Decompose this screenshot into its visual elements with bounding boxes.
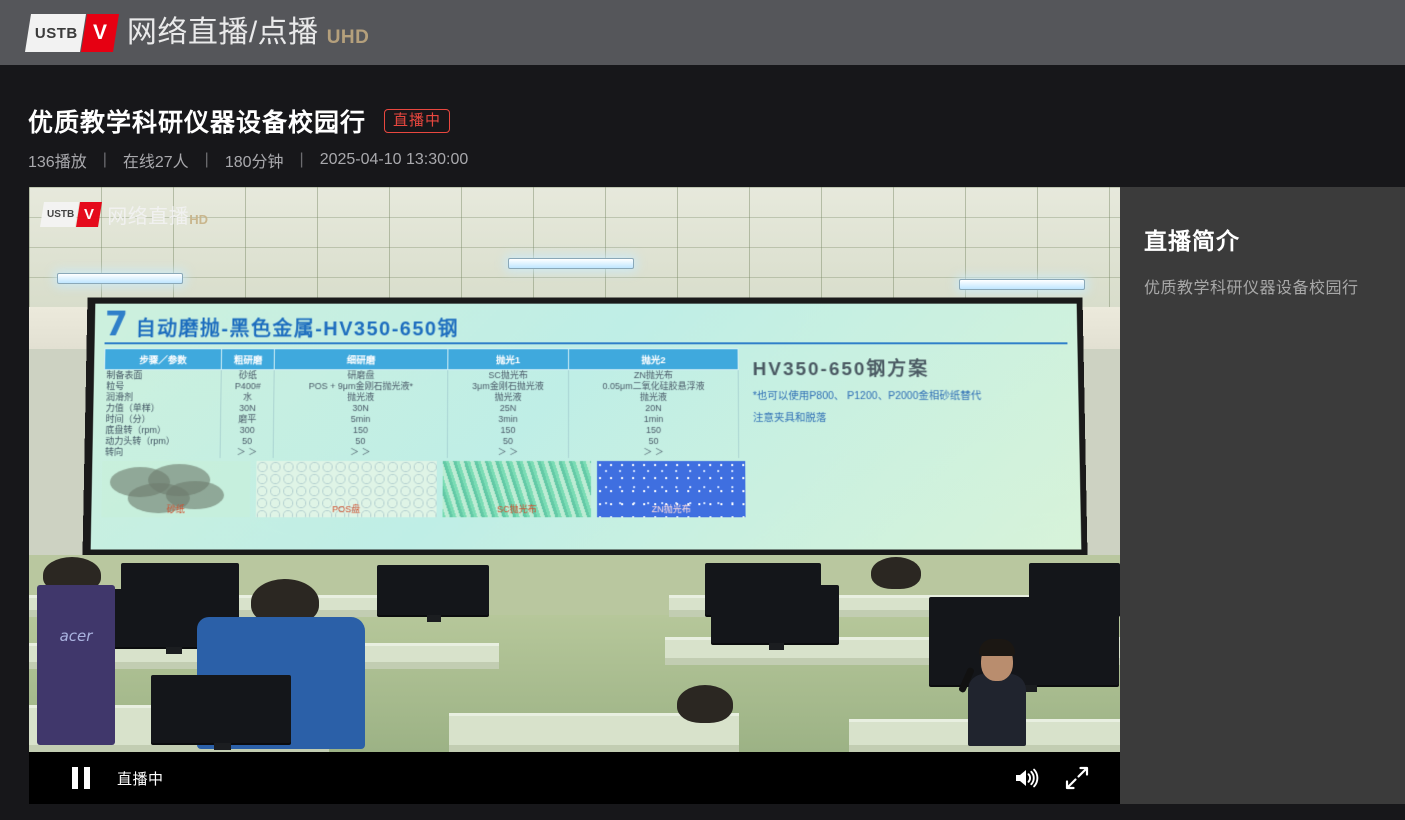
ceiling-light bbox=[508, 258, 634, 269]
table-cell: 50 bbox=[220, 436, 273, 447]
pause-icon[interactable] bbox=[72, 767, 90, 789]
table-header-row: 步骤／参数粗研磨细研磨抛光1抛光2 bbox=[105, 349, 739, 370]
page-footer-strip bbox=[0, 804, 1405, 820]
monitor bbox=[711, 585, 839, 643]
table-cell: 150 bbox=[274, 425, 448, 436]
watermark-quality-tag: HD bbox=[189, 212, 208, 229]
table-cell: ＞ ＞ bbox=[220, 447, 273, 458]
watermark-v-text: V bbox=[84, 206, 94, 223]
meta-plays: 136播放 bbox=[28, 148, 87, 172]
brand-quality-tag: UHD bbox=[327, 27, 370, 52]
ustb-text: USTB bbox=[35, 24, 78, 41]
table-cell: 150 bbox=[569, 425, 739, 436]
table-cell: 1min bbox=[569, 414, 739, 425]
sample-sc-cloth: SC抛光布 bbox=[442, 461, 591, 517]
brand-title: 网络直播/点播 bbox=[127, 18, 319, 48]
table-cell: 砂纸 bbox=[221, 370, 274, 381]
table-cell: 底盘转（rpm） bbox=[103, 425, 220, 436]
scene-classroom bbox=[29, 555, 1120, 752]
table-cell: 抛光液 bbox=[569, 392, 739, 403]
table-cell: 3min bbox=[447, 414, 568, 425]
meta-separator: | bbox=[300, 151, 304, 169]
watermark-label: 网络直播 bbox=[107, 200, 189, 229]
slide-notes-title: HV350-650钢方案 bbox=[753, 354, 1069, 381]
v-badge: V bbox=[81, 14, 119, 52]
slide-header: 7 自动磨抛-黑色金属-HV350-650钢 bbox=[105, 310, 1068, 345]
table-cell: 润滑剂 bbox=[104, 392, 221, 403]
table-cell: 力值（单样） bbox=[104, 403, 221, 414]
table-cell: 研磨盘 bbox=[274, 370, 447, 381]
table-cell: 5min bbox=[274, 414, 447, 425]
table-cell: 水 bbox=[221, 392, 274, 403]
app-header: USTB V 网络直播/点播 UHD bbox=[0, 0, 1405, 65]
sample-caption: SC抛光布 bbox=[443, 502, 592, 515]
table-cell: 制备表面 bbox=[104, 370, 221, 381]
meta-start-time: 2025-04-10 13:30:00 bbox=[320, 151, 469, 169]
student-head bbox=[677, 685, 733, 723]
v-text: V bbox=[93, 21, 107, 45]
page-title: 优质教学科研仪器设备校园行 bbox=[28, 103, 366, 139]
slide-sample-images: 砂纸 POS盘 SC抛光布 ZN抛光布 bbox=[101, 461, 1070, 517]
table-cell: 粒号 bbox=[104, 381, 221, 392]
table-row: 动力头转（rpm）50505050 bbox=[103, 436, 739, 447]
acer-monitor: acer bbox=[37, 585, 115, 745]
meta-separator: | bbox=[205, 151, 209, 169]
sample-caption: POS盘 bbox=[256, 502, 437, 515]
acer-brand-label: acer bbox=[37, 627, 115, 645]
monitor bbox=[929, 597, 1119, 685]
presenter-body bbox=[968, 674, 1026, 746]
pause-bar-left bbox=[72, 767, 78, 789]
student-head bbox=[871, 557, 921, 589]
slide-notes: HV350-650钢方案 *也可以使用P800、 P1200、P2000金相砂纸… bbox=[749, 348, 1070, 458]
watermark-ustb-badge: USTB bbox=[40, 202, 79, 227]
table-cell: 300 bbox=[221, 425, 274, 436]
slide-body: 步骤／参数粗研磨细研磨抛光1抛光2 制备表面砂纸研磨盘SC抛光布ZN抛光布粒号P… bbox=[102, 348, 1069, 458]
status-badge: 直播中 bbox=[384, 109, 450, 133]
video-player[interactable]: 7 自动磨抛-黑色金属-HV350-650钢 步骤／参数粗研磨细研磨抛光1抛光2… bbox=[29, 187, 1120, 804]
table-cell: 抛光液 bbox=[447, 392, 568, 403]
table-cell: 3μm金刚石抛光液 bbox=[447, 381, 568, 392]
table-cell: 50 bbox=[274, 436, 448, 447]
video-watermark: USTB V 网络直播 HD bbox=[42, 200, 208, 229]
slide-title: 自动磨抛-黑色金属-HV350-650钢 bbox=[135, 313, 459, 342]
sample-caption: 砂纸 bbox=[101, 502, 250, 515]
pause-bar-right bbox=[84, 767, 90, 789]
table-cell: 30N bbox=[274, 403, 447, 414]
player-controls: 直播中 bbox=[29, 752, 1120, 804]
table-cell: 时间（分） bbox=[104, 414, 221, 425]
meta-online-viewers: 在线27人 bbox=[123, 148, 189, 172]
slide-parameter-table: 步骤／参数粗研磨细研磨抛光1抛光2 制备表面砂纸研磨盘SC抛光布ZN抛光布粒号P… bbox=[102, 348, 739, 458]
table-cell: POS + 9μm金刚石抛光液* bbox=[274, 381, 447, 392]
video-surface[interactable]: 7 自动磨抛-黑色金属-HV350-650钢 步骤／参数粗研磨细研磨抛光1抛光2… bbox=[29, 187, 1120, 752]
table-row: 粒号P400#POS + 9μm金刚石抛光液*3μm金刚石抛光液0.05μm二氧… bbox=[104, 381, 738, 392]
slide-note: 注意夹具和脱落 bbox=[753, 411, 1069, 425]
watermark-ustb-text: USTB bbox=[47, 209, 74, 220]
sidebar-description: 优质教学科研仪器设备校园行 bbox=[1144, 274, 1405, 298]
slide-note: *也可以使用P800、 P1200、P2000金相砂纸替代 bbox=[753, 389, 1069, 403]
table-cell: 20N bbox=[569, 403, 739, 414]
ceiling-light bbox=[959, 279, 1085, 290]
table-cell: 抛光液 bbox=[274, 392, 447, 403]
table-cell: 30N bbox=[221, 403, 274, 414]
fullscreen-icon[interactable] bbox=[1065, 766, 1089, 790]
ustb-badge: USTB bbox=[25, 14, 86, 52]
table-cell: ＞ ＞ bbox=[273, 447, 447, 458]
table-column-header: 抛光2 bbox=[569, 349, 738, 370]
table-cell: 转向 bbox=[103, 447, 221, 458]
sample-pos-disc: POS盘 bbox=[256, 461, 437, 517]
table-cell: 磨平 bbox=[221, 414, 274, 425]
meta-separator: | bbox=[103, 151, 107, 169]
watermark-v-badge: V bbox=[76, 202, 102, 227]
table-row: 润滑剂水抛光液抛光液抛光液 bbox=[104, 392, 738, 403]
brand-logo[interactable]: USTB V 网络直播/点播 UHD bbox=[28, 14, 369, 52]
table-cell: 0.05μm二氧化硅胶悬浮液 bbox=[569, 381, 739, 392]
meta-duration: 180分钟 bbox=[225, 148, 284, 172]
table-cell: 150 bbox=[447, 425, 569, 436]
table-cell: SC抛光布 bbox=[447, 370, 568, 381]
page-title-row: 优质教学科研仪器设备校园行 直播中 bbox=[28, 103, 450, 139]
sample-zn-cloth: ZN抛光布 bbox=[597, 461, 746, 517]
table-row: 力值（单样）30N30N25N20N bbox=[104, 403, 739, 414]
table-column-header: 步骤／参数 bbox=[105, 349, 222, 370]
live-status-label: 直播中 bbox=[117, 768, 164, 789]
sidebar-title: 直播简介 bbox=[1144, 222, 1405, 256]
ceiling-light bbox=[57, 273, 183, 284]
table-cell: 50 bbox=[569, 436, 739, 447]
ustb-logo-mark: USTB V bbox=[28, 14, 116, 52]
table-cell: P400# bbox=[221, 381, 274, 392]
table-column-header: 抛光1 bbox=[447, 349, 568, 370]
presentation-slide: 7 自动磨抛-黑色金属-HV350-650钢 步骤／参数粗研磨细研磨抛光1抛光2… bbox=[91, 304, 1082, 550]
table-column-header: 细研磨 bbox=[274, 349, 447, 370]
table-column-header: 粗研磨 bbox=[221, 349, 274, 370]
player-controls-right bbox=[1013, 766, 1089, 790]
stream-meta-row: 136播放 | 在线27人 | 180分钟 | 2025-04-10 13:30… bbox=[28, 148, 468, 172]
presenter-hair bbox=[979, 639, 1015, 656]
sample-sandpaper-discs: 砂纸 bbox=[101, 461, 250, 517]
monitor bbox=[377, 565, 489, 615]
stream-info-sidebar: 直播简介 优质教学科研仪器设备校园行 bbox=[1120, 187, 1405, 804]
table-cell: ＞ ＞ bbox=[569, 447, 739, 458]
table-cell: 25N bbox=[447, 403, 568, 414]
table-cell: 50 bbox=[447, 436, 569, 447]
table-row: 制备表面砂纸研磨盘SC抛光布ZN抛光布 bbox=[104, 370, 738, 381]
table-cell: ＞ ＞ bbox=[447, 447, 569, 458]
table-cell: ZN抛光布 bbox=[569, 370, 739, 381]
slide-number: 7 bbox=[105, 310, 128, 339]
projection-screen: 7 自动磨抛-黑色金属-HV350-650钢 步骤／参数粗研磨细研磨抛光1抛光2… bbox=[82, 298, 1087, 556]
chair-back bbox=[151, 675, 291, 743]
table-row: 转向＞ ＞＞ ＞＞ ＞＞ ＞ bbox=[103, 447, 739, 458]
table-cell: 动力头转（rpm） bbox=[103, 436, 220, 447]
sample-caption: ZN抛光布 bbox=[597, 502, 746, 515]
table-row: 时间（分）磨平5min3min1min bbox=[104, 414, 739, 425]
volume-icon[interactable] bbox=[1013, 767, 1039, 789]
table-row: 底盘转（rpm）300150150150 bbox=[103, 425, 738, 436]
